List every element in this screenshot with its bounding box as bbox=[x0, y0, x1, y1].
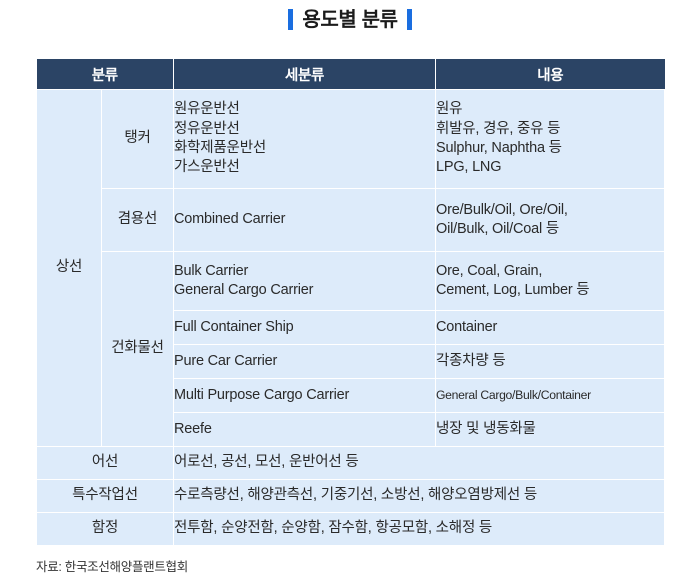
content-line: Ore, Coal, Grain, bbox=[436, 262, 664, 281]
content-cell-multi-purpose: General Cargo/Bulk/Container bbox=[436, 379, 665, 413]
content-cell-naval-vessel: 전투함, 순양전함, 순양함, 잠수함, 항공모함, 소해정 등 bbox=[174, 513, 665, 546]
page-root: 용도별 분류 분류 세분류 내용 상선 bbox=[0, 0, 700, 588]
column-header-category: 분류 bbox=[37, 59, 174, 90]
content-line: General Cargo/Bulk/Container bbox=[436, 387, 664, 403]
content-cell-combined: Ore/Bulk/Oil, Ore/Oil, Oil/Bulk, Oil/Coa… bbox=[436, 189, 665, 252]
title-accent-bar-left bbox=[288, 9, 293, 30]
subclass-cell-reefer: Reefe bbox=[174, 413, 436, 447]
subclass-line: 화학제품운반선 bbox=[174, 139, 435, 158]
category-cell-naval-vessel: 함정 bbox=[37, 513, 174, 546]
subclass-line: Reefe bbox=[174, 420, 435, 439]
table-header: 분류 세분류 내용 bbox=[37, 59, 665, 90]
subclass-line: Bulk Carrier bbox=[174, 262, 435, 281]
content-line: Oil/Bulk, Oil/Coal 등 bbox=[436, 220, 664, 239]
content-cell-special-work-vessel: 수로측량선, 해양관측선, 기중기선, 소방선, 해양오염방제선 등 bbox=[174, 480, 665, 513]
category-cell-merchant-ship: 상선 bbox=[37, 90, 102, 447]
column-header-subcategory: 세분류 bbox=[174, 59, 436, 90]
table-row: 겸용선 Combined Carrier Ore/Bulk/Oil, Ore/O… bbox=[37, 189, 665, 252]
table-row: 상선 탱커 원유운반선 정유운반선 화학제품운반선 가스운반선 원유 bbox=[37, 90, 665, 189]
category-cell-fishing-vessel: 어선 bbox=[37, 447, 174, 480]
subclass-cell-container: Full Container Ship bbox=[174, 311, 436, 345]
subclass-line: General Cargo Carrier bbox=[174, 281, 435, 300]
content-line: Sulphur, Naphtha 등 bbox=[436, 139, 664, 158]
content-cell-container: Container bbox=[436, 311, 665, 345]
table-body: 상선 탱커 원유운반선 정유운반선 화학제품운반선 가스운반선 원유 bbox=[37, 90, 665, 546]
subclass-line: Pure Car Carrier bbox=[174, 352, 435, 371]
content-line: 휘발유, 경유, 중유 등 bbox=[436, 120, 664, 139]
subclass-line: Combined Carrier bbox=[174, 210, 435, 229]
subclass-cell-tanker: 원유운반선 정유운반선 화학제품운반선 가스운반선 bbox=[174, 90, 436, 189]
content-line: Container bbox=[436, 318, 664, 337]
table-row: 건화물선 Bulk Carrier General Cargo Carrier … bbox=[37, 252, 665, 311]
table-row: 함정 전투함, 순양전함, 순양함, 잠수함, 항공모함, 소해정 등 bbox=[37, 513, 665, 546]
content-line: 각종차량 등 bbox=[436, 352, 664, 371]
content-cell-car-carrier: 각종차량 등 bbox=[436, 345, 665, 379]
subcategory-cell-combined: 겸용선 bbox=[102, 189, 174, 252]
subclass-line: 가스운반선 bbox=[174, 158, 435, 177]
subclass-cell-bulk: Bulk Carrier General Cargo Carrier bbox=[174, 252, 436, 311]
subcategory-cell-dry-cargo: 건화물선 bbox=[102, 252, 174, 447]
source-note: 자료: 한국조선해양플랜트협회 bbox=[36, 556, 188, 575]
content-cell-bulk: Ore, Coal, Grain, Cement, Log, Lumber 등 bbox=[436, 252, 665, 311]
content-cell-fishing-vessel: 어로선, 공선, 모선, 운반어선 등 bbox=[174, 447, 665, 480]
table-row: 특수작업선 수로측량선, 해양관측선, 기중기선, 소방선, 해양오염방제선 등 bbox=[37, 480, 665, 513]
subclass-cell-multi-purpose: Multi Purpose Cargo Carrier bbox=[174, 379, 436, 413]
classification-table-wrapper: 분류 세분류 내용 상선 탱커 원유운반선 정유운반선 화학제품운반선 가 bbox=[36, 58, 664, 546]
subclass-cell-combined: Combined Carrier bbox=[174, 189, 436, 252]
content-line: Ore/Bulk/Oil, Ore/Oil, bbox=[436, 201, 664, 220]
category-cell-special-work-vessel: 특수작업선 bbox=[37, 480, 174, 513]
table-row: 어선 어로선, 공선, 모선, 운반어선 등 bbox=[37, 447, 665, 480]
table-header-row: 분류 세분류 내용 bbox=[37, 59, 665, 90]
content-cell-reefer: 냉장 및 냉동화물 bbox=[436, 413, 665, 447]
content-line: 냉장 및 냉동화물 bbox=[436, 420, 664, 439]
subclass-cell-car-carrier: Pure Car Carrier bbox=[174, 345, 436, 379]
content-cell-tanker: 원유 휘발유, 경유, 중유 등 Sulphur, Naphtha 등 LPG,… bbox=[436, 90, 665, 189]
column-header-content: 내용 bbox=[436, 59, 665, 90]
subcategory-cell-tanker: 탱커 bbox=[102, 90, 174, 189]
content-line: Cement, Log, Lumber 등 bbox=[436, 281, 664, 300]
title-text: 용도별 분류 bbox=[302, 10, 397, 30]
subclass-line: Multi Purpose Cargo Carrier bbox=[174, 386, 435, 405]
subclass-line: Full Container Ship bbox=[174, 318, 435, 337]
classification-table: 분류 세분류 내용 상선 탱커 원유운반선 정유운반선 화학제품운반선 가 bbox=[36, 58, 665, 546]
content-line: 원유 bbox=[436, 100, 664, 119]
subclass-line: 원유운반선 bbox=[174, 100, 435, 119]
page-title: 용도별 분류 bbox=[0, 0, 700, 42]
title-accent-bar-right bbox=[407, 9, 412, 30]
title-group: 용도별 분류 bbox=[288, 9, 411, 30]
content-line: LPG, LNG bbox=[436, 158, 664, 177]
subclass-line: 정유운반선 bbox=[174, 120, 435, 139]
